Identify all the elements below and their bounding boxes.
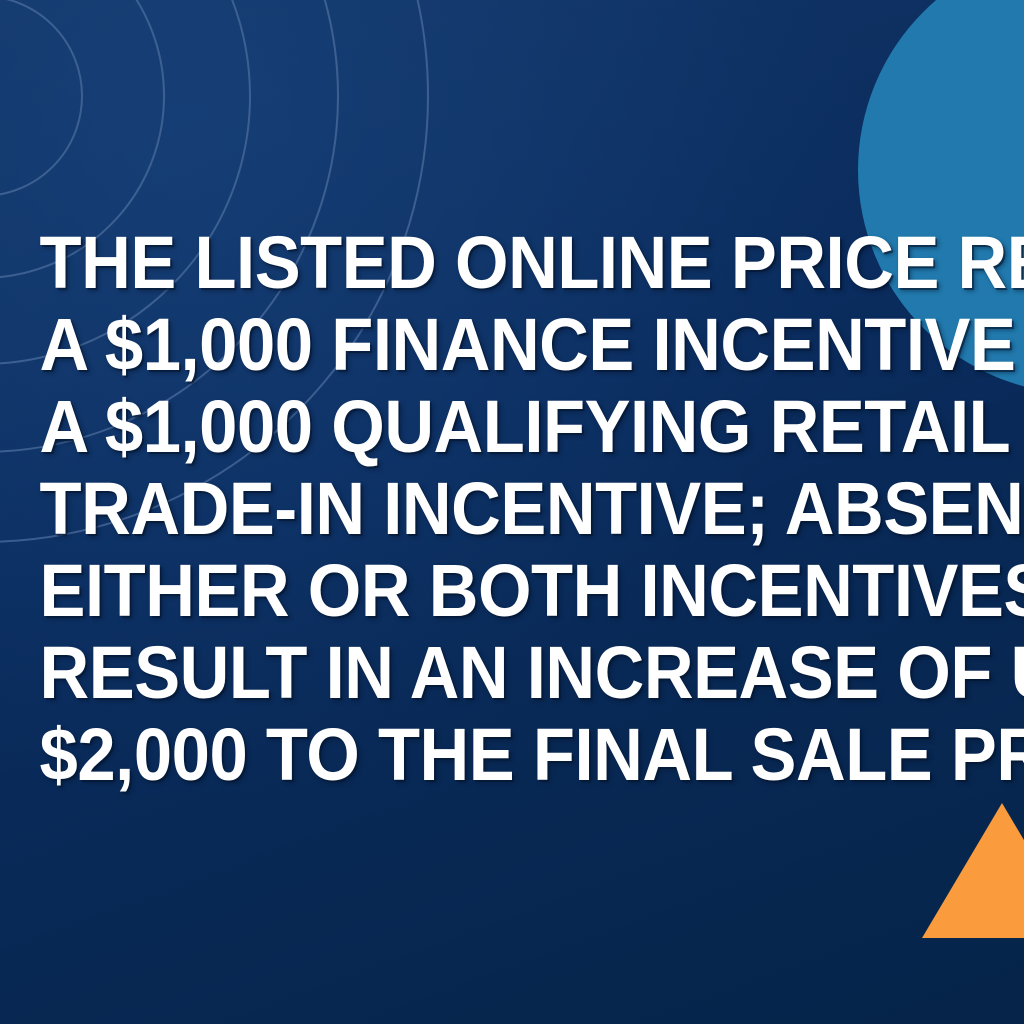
headline-line-6: RESULT IN AN INCREASE OF UP TO — [40, 632, 985, 714]
promo-card-canvas: THE LISTED ONLINE PRICE REFLECTS A $1,00… — [0, 0, 1024, 1024]
headline-line-2: A $1,000 FINANCE INCENTIVE AND — [40, 304, 985, 386]
headline-line-1: THE LISTED ONLINE PRICE REFLECTS — [40, 222, 985, 304]
headline-line-3: A $1,000 QUALIFYING RETAIL — [40, 386, 985, 468]
disclaimer-headline: THE LISTED ONLINE PRICE REFLECTS A $1,00… — [0, 222, 1024, 796]
headline-line-4: TRADE-IN INCENTIVE; ABSENCE OF — [40, 468, 985, 550]
headline-line-5: EITHER OR BOTH INCENTIVES WILL — [40, 550, 985, 632]
headline-line-7: $2,000 TO THE FINAL SALE PRICE. — [40, 714, 985, 796]
